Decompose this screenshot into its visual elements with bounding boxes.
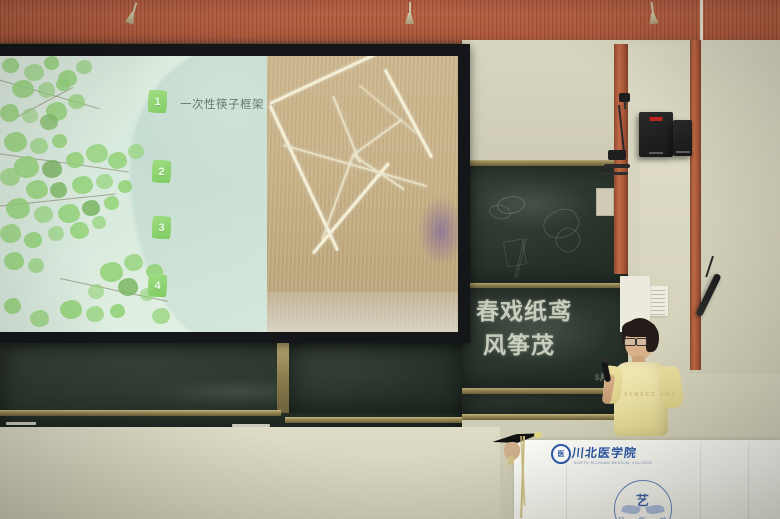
photo-floor-area [267,292,458,332]
photo-color-cast [418,196,458,266]
banner-fold [700,442,701,519]
wall-notice-poster[interactable] [648,286,668,316]
presenter-sleeve-right [657,365,685,410]
banner-organization-pinyin: NORTH SICHUAN MEDICAL COLLEGE [574,461,652,465]
cable-bundle [608,150,626,160]
blackboard-headline-line2: 风筝茂 [483,326,555,360]
camera-mount [624,102,626,109]
chalk-tray-left [0,410,281,416]
chalk-piece[interactable] [6,422,36,425]
cap-knot [508,456,514,465]
slide-photo-panel [267,56,458,332]
presenter-figure: STREET AWS [602,318,698,438]
wall-box [596,188,614,216]
classroom-scene: 春戏纸鸢 风筝茂 5月1日 [0,0,780,519]
blackboard-divider-frame [277,343,289,413]
slide-left-panel: 1 2 3 4 一次性筷子框架 [0,56,267,332]
microphone-head-icon [602,356,609,363]
projection-screen: 1 2 3 4 一次性筷子框架 [0,56,458,332]
slide-badge-3: 3 [152,216,171,239]
wall-speaker-secondary [673,120,692,156]
ceiling-camera-icon [619,93,630,102]
slide-badge-4: 4 [148,274,167,297]
presenter-glasses-icon [624,338,636,346]
college-logo-char: 医 [558,449,565,459]
slide-badge-1: 1 [148,90,167,113]
blackboard-headline-line1: 春戏纸鸢 [476,292,572,326]
banner-organization-name: 川北医学院 [571,444,638,461]
speaker-brand-badge [650,117,663,121]
chalk-tray-right [285,417,462,423]
blackboard-panel-left-2 [289,343,462,413]
lower-wall [0,427,500,519]
presenter-hair-side [646,326,659,352]
speaker-logo [676,151,690,153]
college-logo-icon: 医 [551,444,571,464]
wall-speaker-main [639,112,673,157]
cable-bundle [598,172,628,175]
presenter-glasses-icon [636,338,647,346]
slide-badge-2: 2 [152,160,171,183]
ceiling-lamp-icon [405,2,414,24]
slide-caption-text: 一次性筷子框架 [180,96,264,112]
cable-bundle [604,164,630,168]
cap-ornament [534,432,542,438]
presenter-shirt-text: STREET AWS [624,392,677,398]
speaker-logo [649,152,663,154]
banner-fold [748,442,749,519]
